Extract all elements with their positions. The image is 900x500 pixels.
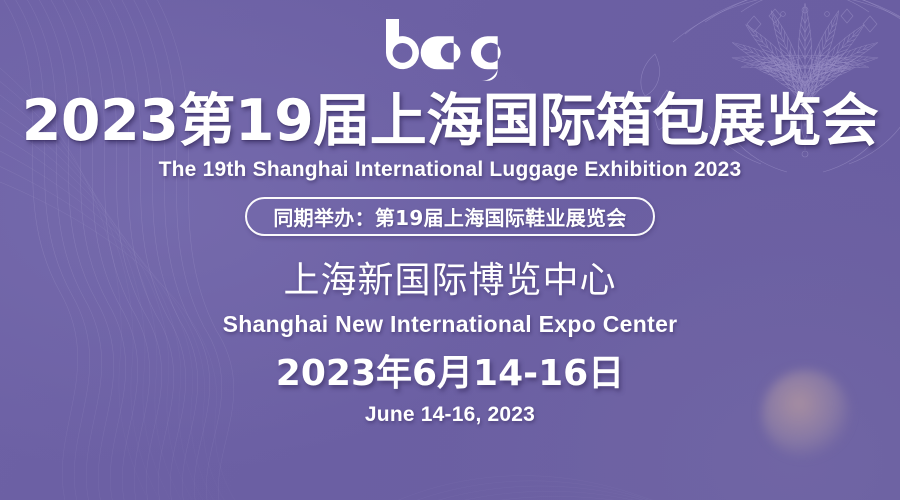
venue-name-en: Shanghai New International Expo Center <box>223 313 678 336</box>
event-date-en: June 14-16, 2023 <box>365 404 535 425</box>
concurrent-event-badge: 同期举办：第19届上海国际鞋业展览会 <box>245 197 654 236</box>
banner-content: 2023第19届上海国际箱包展览会 The 19th Shanghai Inte… <box>0 0 900 500</box>
bag-logo <box>386 19 514 81</box>
event-date-cn: 2023年6月14-16日 <box>276 356 624 392</box>
page-title: 2023第19届上海国际箱包展览会 <box>22 93 878 150</box>
venue-name-cn: 上海新国际博览中心 <box>283 263 616 299</box>
exhibition-banner: 2023第19届上海国际箱包展览会 The 19th Shanghai Inte… <box>0 0 900 500</box>
bag-logo-icon <box>386 19 514 81</box>
page-subtitle: The 19th Shanghai International Luggage … <box>159 159 742 180</box>
